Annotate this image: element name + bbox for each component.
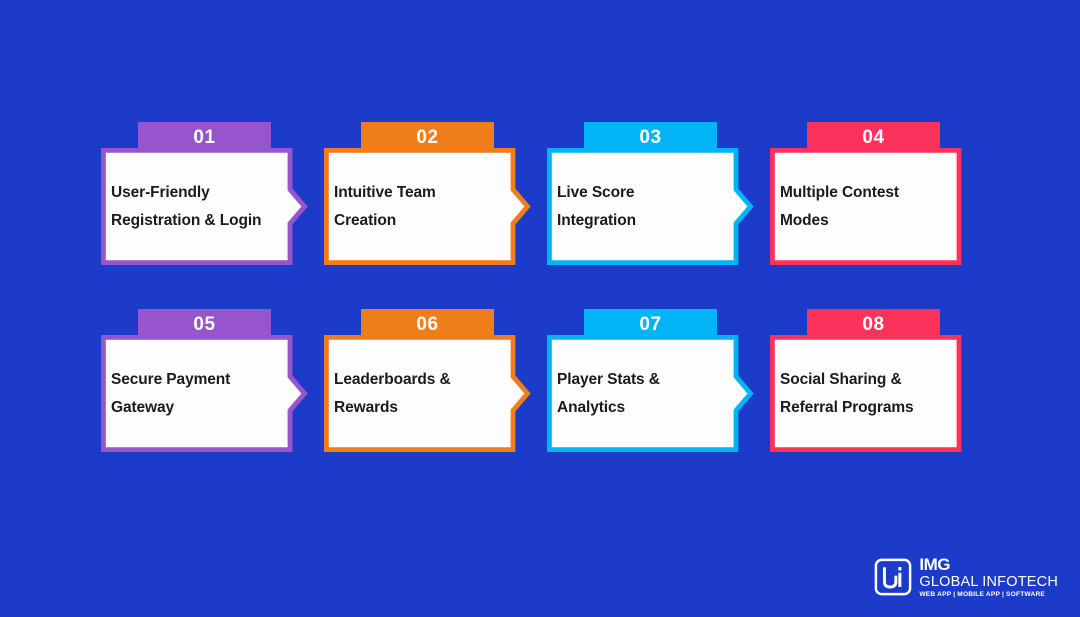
feature-card-05[interactable]: 05 Secure Payment Gateway xyxy=(101,309,307,457)
logo-tagline: WEB APP | MOBILE APP | SOFTWARE xyxy=(919,592,1058,599)
company-logo: IMG GLOBAL INFOTECH WEB APP | MOBILE APP… xyxy=(874,556,1058,599)
card-body: Intuitive Team Creation xyxy=(324,148,530,265)
card-shape xyxy=(770,335,976,452)
card-shape xyxy=(547,335,753,452)
feature-card-03[interactable]: 03 Live Score Integration xyxy=(547,122,753,270)
feature-card-07[interactable]: 07 Player Stats & Analytics xyxy=(547,309,753,457)
cards-row-1: 01 User-Friendly Registration & Login 02 xyxy=(101,122,991,270)
card-body: Social Sharing & Referral Programs xyxy=(770,335,976,452)
card-number: 04 xyxy=(862,128,884,147)
card-shape xyxy=(101,335,307,452)
card-number: 07 xyxy=(639,315,661,334)
card-body: Player Stats & Analytics xyxy=(547,335,753,452)
card-body: Leaderboards & Rewards xyxy=(324,335,530,452)
card-body: User-Friendly Registration & Login xyxy=(101,148,307,265)
card-number: 06 xyxy=(416,315,438,334)
card-number: 05 xyxy=(193,315,215,334)
card-shape xyxy=(101,148,307,265)
card-shape xyxy=(324,335,530,452)
card-number: 02 xyxy=(416,128,438,147)
card-body: Secure Payment Gateway xyxy=(101,335,307,452)
infographic-canvas: 01 User-Friendly Registration & Login 02 xyxy=(0,0,1080,617)
card-number: 01 xyxy=(193,128,215,147)
feature-card-02[interactable]: 02 Intuitive Team Creation xyxy=(324,122,530,270)
card-shape xyxy=(324,148,530,265)
cards-row-2: 05 Secure Payment Gateway 06 L xyxy=(101,309,991,457)
logo-name: GLOBAL INFOTECH xyxy=(919,575,1058,590)
feature-card-01[interactable]: 01 User-Friendly Registration & Login xyxy=(101,122,307,270)
feature-card-08[interactable]: 08 Social Sharing & Referral Programs xyxy=(770,309,976,457)
card-number: 03 xyxy=(639,128,661,147)
logo-brand: IMG xyxy=(919,556,1058,573)
card-shape xyxy=(770,148,976,265)
feature-card-06[interactable]: 06 Leaderboards & Rewards xyxy=(324,309,530,457)
feature-card-04[interactable]: 04 Multiple Contest Modes xyxy=(770,122,976,270)
img-global-infotech-logo-icon xyxy=(874,558,912,596)
card-body: Live Score Integration xyxy=(547,148,753,265)
card-number: 08 xyxy=(862,315,884,334)
logo-text-block: IMG GLOBAL INFOTECH WEB APP | MOBILE APP… xyxy=(919,556,1058,599)
card-body: Multiple Contest Modes xyxy=(770,148,976,265)
card-shape xyxy=(547,148,753,265)
